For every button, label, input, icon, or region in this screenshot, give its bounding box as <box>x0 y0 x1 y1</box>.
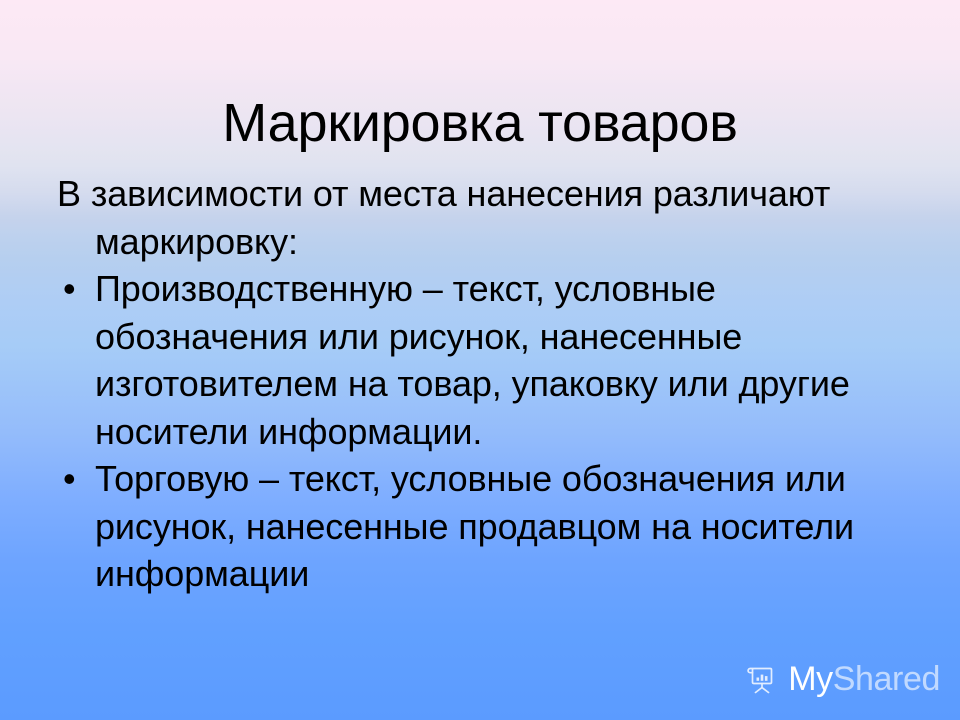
watermark-text: MyShared <box>788 662 940 696</box>
intro-paragraph: В зависимости от места нанесения различа… <box>52 170 888 265</box>
slide: Маркировка товаров В зависимости от мест… <box>0 0 960 720</box>
watermark-text-primary: My <box>788 660 833 698</box>
watermark-logo: MyShared <box>745 662 940 696</box>
presentation-board-chart-icon <box>745 662 779 696</box>
bullet-icon: • <box>63 455 87 503</box>
list-item-label: Производственную – текст, условные обозн… <box>95 268 850 452</box>
watermark-text-secondary: Shared <box>833 660 940 698</box>
bullet-icon: • <box>63 265 87 313</box>
list-item: •Производственную – текст, условные обоз… <box>52 265 888 455</box>
slide-body: В зависимости от места нанесения различа… <box>52 170 888 598</box>
list-item: •Торговую – текст, условные обозначения … <box>52 455 888 598</box>
list-item-label: Торговую – текст, условные обозначения и… <box>95 458 854 594</box>
page-title: Маркировка товаров <box>0 94 960 152</box>
